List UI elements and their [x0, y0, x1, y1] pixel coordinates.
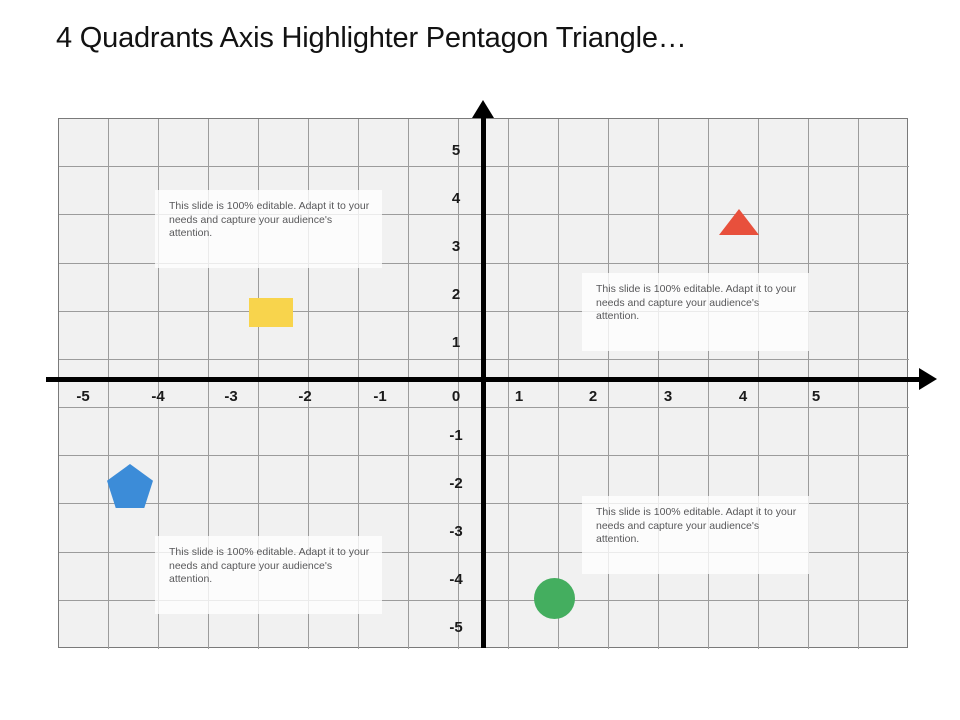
triangle-marker[interactable] — [719, 209, 759, 235]
grid-cell — [109, 119, 159, 167]
grid-cell — [659, 215, 709, 263]
grid-cell — [359, 408, 409, 456]
grid-cell — [209, 119, 259, 167]
grid-cell — [609, 215, 659, 263]
x-tick-label: 0 — [431, 389, 481, 404]
grid-cell — [609, 408, 659, 456]
grid-cell — [709, 601, 759, 649]
grid-cell — [859, 167, 909, 215]
grid-cell — [559, 215, 609, 263]
grid-cell — [809, 601, 859, 649]
circle-marker[interactable] — [534, 578, 575, 619]
grid-cell — [59, 553, 109, 601]
grid-cell — [259, 408, 309, 456]
x-tick-label: -4 — [133, 389, 183, 404]
grid-cell — [209, 408, 259, 456]
grid-cell — [859, 504, 909, 552]
x-tick-label: -1 — [355, 389, 405, 404]
grid-cell — [659, 167, 709, 215]
grid-cell — [109, 312, 159, 360]
grid-cell — [609, 119, 659, 167]
grid-cell — [109, 264, 159, 312]
grid-cell — [59, 167, 109, 215]
grid-cell — [509, 119, 559, 167]
y-tick-label: 3 — [431, 239, 481, 254]
grid-cell — [759, 119, 809, 167]
x-tick-label: 5 — [791, 389, 841, 404]
grid-cell — [859, 360, 909, 408]
grid-cell — [509, 215, 559, 263]
grid-cell — [109, 408, 159, 456]
grid-cell — [809, 553, 859, 601]
slide-canvas: 4 Quadrants Axis Highlighter Pentagon Tr… — [0, 0, 960, 720]
grid-cell — [309, 408, 359, 456]
grid-cell — [509, 264, 559, 312]
grid-cell — [359, 119, 409, 167]
grid-cell — [859, 553, 909, 601]
y-tick-label: 1 — [431, 335, 481, 350]
grid-cell — [159, 312, 209, 360]
grid-cell — [109, 601, 159, 649]
x-tick-label: 3 — [643, 389, 693, 404]
grid-cell — [759, 408, 809, 456]
grid-cell — [709, 408, 759, 456]
grid-cell — [109, 167, 159, 215]
y-axis-arrow-icon — [472, 100, 494, 118]
page-title: 4 Quadrants Axis Highlighter Pentagon Tr… — [56, 16, 936, 60]
note-textbox[interactable]: This slide is 100% editable. Adapt it to… — [582, 496, 809, 574]
grid-cell — [59, 264, 109, 312]
grid-cell — [59, 408, 109, 456]
grid-cell — [809, 264, 859, 312]
note-textbox[interactable]: This slide is 100% editable. Adapt it to… — [155, 536, 382, 614]
grid-cell — [59, 601, 109, 649]
grid-cell — [609, 167, 659, 215]
x-tick-label: 4 — [718, 389, 768, 404]
grid-cell — [159, 119, 209, 167]
grid-cell — [609, 601, 659, 649]
y-tick-label: 5 — [431, 143, 481, 158]
grid-cell — [809, 312, 859, 360]
grid-cell — [309, 312, 359, 360]
grid-cell — [709, 119, 759, 167]
grid-cell — [859, 215, 909, 263]
grid-cell — [659, 119, 709, 167]
grid-cell — [809, 456, 859, 504]
grid-cell — [259, 119, 309, 167]
grid-cell — [109, 215, 159, 263]
grid-cell — [509, 456, 559, 504]
x-tick-label: -2 — [280, 389, 330, 404]
grid-cell — [359, 264, 409, 312]
grid-cell — [559, 167, 609, 215]
y-tick-label: -3 — [431, 524, 481, 539]
grid-cell — [209, 456, 259, 504]
grid-cell — [809, 167, 859, 215]
grid-cell — [759, 167, 809, 215]
grid-cell — [509, 504, 559, 552]
grid-cell — [509, 167, 559, 215]
x-tick-label: 2 — [568, 389, 618, 404]
y-axis-line — [481, 116, 486, 648]
x-axis-arrow-icon — [919, 368, 937, 390]
grid-cell — [59, 119, 109, 167]
grid-cell — [109, 504, 159, 552]
y-tick-label: 2 — [431, 287, 481, 302]
x-tick-label: 1 — [494, 389, 544, 404]
grid-cell — [59, 456, 109, 504]
grid-cell — [259, 456, 309, 504]
grid-cell — [59, 504, 109, 552]
grid-cell — [359, 456, 409, 504]
grid-cell — [809, 408, 859, 456]
grid-cell — [809, 215, 859, 263]
rectangle-marker[interactable] — [249, 298, 293, 327]
grid-cell — [759, 601, 809, 649]
grid-cell — [59, 215, 109, 263]
grid-cell — [309, 456, 359, 504]
grid-cell — [509, 408, 559, 456]
grid-cell — [659, 601, 709, 649]
note-textbox[interactable]: This slide is 100% editable. Adapt it to… — [155, 190, 382, 268]
grid-cell — [859, 601, 909, 649]
grid-cell — [809, 504, 859, 552]
y-tick-label: -1 — [431, 428, 481, 443]
quadrant-chart: -5 -4 -3 -2 -1 0 1 2 3 4 5 5 4 3 2 1 -1 … — [58, 118, 908, 648]
note-textbox[interactable]: This slide is 100% editable. Adapt it to… — [582, 273, 809, 351]
grid-cell — [559, 408, 609, 456]
grid-cell — [859, 264, 909, 312]
grid-cell — [159, 408, 209, 456]
grid-cell — [859, 456, 909, 504]
y-tick-label: -5 — [431, 620, 481, 635]
y-tick-label: -2 — [431, 476, 481, 491]
grid-cell — [59, 312, 109, 360]
grid-cell — [859, 312, 909, 360]
grid-cell — [159, 264, 209, 312]
grid-cell — [559, 119, 609, 167]
grid-cell — [809, 119, 859, 167]
grid-cell — [359, 312, 409, 360]
x-tick-label: -3 — [206, 389, 256, 404]
grid-cell — [859, 408, 909, 456]
x-tick-label: -5 — [58, 389, 108, 404]
grid-cell — [109, 553, 159, 601]
grid-cell — [309, 264, 359, 312]
grid-cell — [309, 119, 359, 167]
grid-cell — [859, 119, 909, 167]
y-tick-label: -4 — [431, 572, 481, 587]
grid-cell — [509, 312, 559, 360]
grid-cell — [159, 456, 209, 504]
y-tick-label: 4 — [431, 191, 481, 206]
grid-cell — [759, 215, 809, 263]
grid-cell — [659, 408, 709, 456]
